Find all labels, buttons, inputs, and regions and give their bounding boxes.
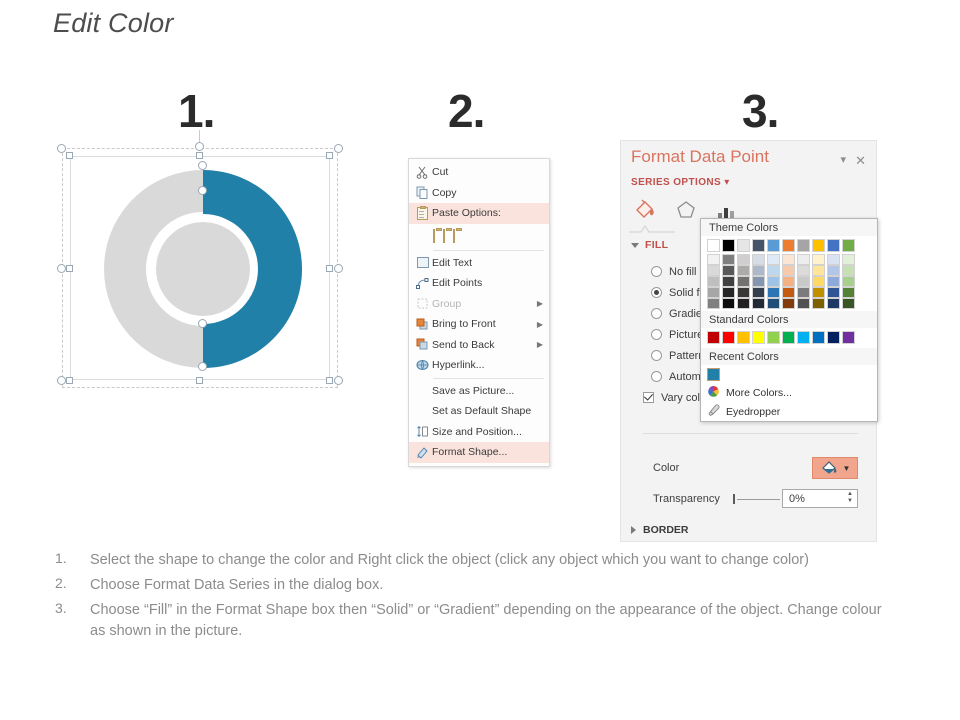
border-section-header[interactable]: BORDER	[631, 524, 689, 536]
resize-handle-e[interactable]	[326, 265, 333, 272]
chevron-right-icon: ▶	[537, 320, 545, 329]
theme-swatch-base[interactable]	[722, 239, 735, 252]
pane-title: Format Data Point	[631, 147, 769, 167]
theme-swatch-shade-5[interactable]	[842, 298, 855, 309]
theme-swatch-shade-1[interactable]	[722, 254, 735, 265]
radio-indicator	[651, 308, 662, 319]
standard-swatch-10[interactable]	[842, 331, 855, 344]
paste-options-row[interactable]	[409, 224, 549, 248]
theme-swatch-shade-3[interactable]	[737, 276, 750, 287]
standard-swatch-9[interactable]	[827, 331, 840, 344]
theme-swatch-shade-4[interactable]	[842, 287, 855, 298]
theme-swatch-shade-5[interactable]	[812, 298, 825, 309]
menu-item-paste-options[interactable]: Paste Options:	[409, 203, 549, 224]
standard-colors-header: Standard Colors	[701, 311, 877, 328]
theme-swatch-shade-2[interactable]	[752, 265, 765, 276]
theme-swatch-shade-2[interactable]	[737, 265, 750, 276]
theme-swatch-shade-1[interactable]	[767, 254, 780, 265]
step-number-2: 2.	[448, 88, 484, 134]
eyedropper-icon	[707, 404, 720, 420]
theme-swatch-base[interactable]	[827, 239, 840, 252]
theme-swatch-shade-4[interactable]	[782, 287, 795, 298]
menu-item-send-to-back[interactable]: Send to Back ▶	[409, 335, 549, 356]
menu-label: Hyperlink...	[432, 359, 545, 371]
format-shape-icon	[413, 446, 432, 459]
theme-swatch-shade-4[interactable]	[812, 287, 825, 298]
theme-swatch-shade-3[interactable]	[782, 276, 795, 287]
slider-thumb[interactable]	[733, 494, 735, 504]
theme-swatch-base[interactable]	[707, 239, 720, 252]
theme-color-column-10[interactable]	[842, 239, 855, 309]
standard-swatch-6[interactable]	[782, 331, 795, 344]
slider-track	[737, 499, 780, 500]
series-options-label: SERIES OPTIONS	[631, 177, 721, 188]
theme-color-column-2[interactable]	[722, 239, 735, 309]
theme-swatch-shade-5[interactable]	[707, 298, 720, 309]
menu-item-size-and-position[interactable]: Size and Position...	[409, 422, 549, 443]
step-number-3: 3.	[742, 88, 778, 134]
resize-handle-ne[interactable]	[326, 152, 333, 159]
menu-item-edit-points[interactable]: Edit Points	[409, 273, 549, 294]
standard-swatch-3[interactable]	[737, 331, 750, 344]
resize-handle-nw[interactable]	[66, 152, 73, 159]
menu-label: Set as Default Shape	[432, 405, 545, 417]
theme-swatch-base[interactable]	[812, 239, 825, 252]
theme-swatch-shade-5[interactable]	[737, 298, 750, 309]
outer-handle-w[interactable]	[57, 264, 66, 273]
segment-handle-top-outer[interactable]	[198, 161, 207, 170]
standard-colors-row[interactable]	[701, 328, 877, 348]
eyedropper-label: Eyedropper	[726, 406, 780, 418]
transparency-value: 0%	[789, 493, 805, 505]
radio-indicator	[651, 266, 662, 277]
menu-item-edit-text[interactable]: Edit Text	[409, 253, 549, 274]
instruction-item-1: 1. Select the shape to change the color …	[55, 550, 890, 571]
theme-swatch-shade-4[interactable]	[797, 287, 810, 298]
transparency-setting-row[interactable]: Transparency 0% ▲ ▼	[653, 489, 858, 508]
checkbox-indicator-checked	[643, 392, 654, 403]
instruction-text: Select the shape to change the color and…	[90, 550, 809, 571]
theme-colors-header: Theme Colors	[701, 219, 877, 236]
theme-swatch-base[interactable]	[767, 239, 780, 252]
resize-handle-sw[interactable]	[66, 377, 73, 384]
theme-swatch-shade-3[interactable]	[722, 276, 735, 287]
recent-swatch-1[interactable]	[707, 368, 720, 381]
menu-item-format-shape[interactable]: Format Shape...	[409, 442, 549, 463]
page-title: Edit Color	[53, 8, 174, 39]
doughnut-chart[interactable]	[100, 166, 306, 372]
theme-swatch-shade-5[interactable]	[797, 298, 810, 309]
theme-swatch-base[interactable]	[842, 239, 855, 252]
spinner-up-icon[interactable]: ▲	[847, 492, 853, 497]
menu-item-bring-to-front[interactable]: Bring to Front ▶	[409, 314, 549, 335]
size-position-icon	[413, 425, 432, 438]
theme-swatch-shade-1[interactable]	[827, 254, 840, 265]
theme-swatch-shade-5[interactable]	[782, 298, 795, 309]
menu-item-cut[interactable]: Cut	[409, 162, 549, 183]
recent-colors-row[interactable]	[701, 365, 877, 383]
option-label: No fill	[669, 266, 697, 278]
standard-swatch-1[interactable]	[707, 331, 720, 344]
theme-swatch-shade-4[interactable]	[752, 287, 765, 298]
edit-text-icon	[413, 257, 432, 268]
doughnut-svg	[100, 166, 306, 372]
theme-swatch-shade-1[interactable]	[797, 254, 810, 265]
menu-item-hyperlink[interactable]: Hyperlink...	[409, 355, 549, 376]
theme-swatch-base[interactable]	[782, 239, 795, 252]
outer-handle-sw[interactable]	[57, 376, 66, 385]
theme-swatch-shade-1[interactable]	[707, 254, 720, 265]
fill-section-header[interactable]: FILL	[631, 239, 668, 251]
theme-swatch-shade-2[interactable]	[812, 265, 825, 276]
menu-label: Copy	[432, 187, 545, 199]
menu-label: Save as Picture...	[432, 385, 545, 397]
radio-indicator	[651, 329, 662, 340]
standard-swatch-2[interactable]	[722, 331, 735, 344]
bring-to-front-icon	[413, 318, 432, 331]
effects-pentagon-icon[interactable]	[675, 199, 697, 224]
theme-swatch-shade-5[interactable]	[752, 298, 765, 309]
paste-keep-formatting-icon[interactable]	[433, 230, 435, 242]
theme-swatch-shade-3[interactable]	[707, 276, 720, 287]
segment-handle-top-inner[interactable]	[198, 186, 207, 195]
resize-handle-w[interactable]	[66, 265, 73, 272]
theme-color-column-5[interactable]	[767, 239, 780, 309]
menu-label: Size and Position...	[432, 426, 545, 438]
chart-selection-panel[interactable]	[62, 148, 338, 388]
standard-swatch-7[interactable]	[797, 331, 810, 344]
menu-label: Format Shape...	[432, 446, 545, 458]
theme-swatch-shade-5[interactable]	[827, 298, 840, 309]
paste-merge-formatting-icon[interactable]	[443, 230, 445, 242]
doughnut-inner-circle	[156, 222, 250, 316]
rotation-handle[interactable]	[195, 142, 204, 151]
more-colors-item[interactable]: More Colors...	[701, 383, 877, 402]
instruction-item-3: 3. Choose “Fill” in the Format Shape box…	[55, 600, 890, 642]
hyperlink-icon	[413, 359, 432, 372]
instruction-number: 3.	[55, 600, 90, 642]
radio-indicator	[651, 371, 662, 382]
menu-label: Edit Points	[432, 277, 545, 289]
menu-label: Bring to Front	[432, 318, 537, 330]
theme-swatch-shade-4[interactable]	[707, 287, 720, 298]
group-icon	[413, 297, 432, 310]
outer-handle-se[interactable]	[334, 376, 343, 385]
segment-handle-bottom-inner[interactable]	[198, 319, 207, 328]
theme-color-column-8[interactable]	[812, 239, 825, 309]
pane-menu-caret-icon[interactable]: ▾	[840, 153, 846, 166]
chevron-right-icon: ▶	[537, 299, 545, 308]
theme-swatch-shade-2[interactable]	[782, 265, 795, 276]
chevron-down-icon: ▾	[724, 177, 729, 188]
theme-swatch-shade-3[interactable]	[797, 276, 810, 287]
theme-swatch-shade-3[interactable]	[752, 276, 765, 287]
color-picker-dropdown[interactable]: Theme Colors Standard Colors Recent Colo…	[700, 218, 878, 422]
menu-label: Edit Text	[432, 257, 545, 269]
pane-divider	[643, 433, 858, 434]
theme-swatch-shade-4[interactable]	[737, 287, 750, 298]
close-icon[interactable]: ✕	[855, 153, 866, 169]
menu-item-copy[interactable]: Copy	[409, 183, 549, 204]
resize-handle-n[interactable]	[196, 152, 203, 159]
eyedropper-item[interactable]: Eyedropper	[701, 402, 877, 421]
theme-swatch-shade-2[interactable]	[707, 265, 720, 276]
context-menu[interactable]: Cut Copy Paste Options: Edit Text Edit P…	[408, 158, 550, 467]
theme-swatch-shade-2[interactable]	[842, 265, 855, 276]
theme-swatch-base[interactable]	[752, 239, 765, 252]
radio-indicator	[651, 350, 662, 361]
theme-swatch-shade-4[interactable]	[827, 287, 840, 298]
menu-separator	[433, 250, 544, 251]
theme-swatch-shade-5[interactable]	[767, 298, 780, 309]
standard-swatch-8[interactable]	[812, 331, 825, 344]
outer-handle-nw[interactable]	[57, 144, 66, 153]
theme-swatch-shade-3[interactable]	[767, 276, 780, 287]
scissors-icon	[413, 166, 432, 179]
color-dropdown-caret-icon[interactable]: ▼	[843, 464, 851, 473]
resize-handle-se[interactable]	[326, 377, 333, 384]
theme-swatch-shade-2[interactable]	[722, 265, 735, 276]
outer-handle-e[interactable]	[334, 264, 343, 273]
theme-swatch-shade-4[interactable]	[722, 287, 735, 298]
color-setting-row[interactable]: Color ▼	[653, 457, 858, 479]
menu-item-set-as-default-shape[interactable]: Set as Default Shape	[409, 401, 549, 422]
fill-header-label: FILL	[645, 239, 668, 251]
menu-label: Group	[432, 298, 537, 310]
color-label: Color	[653, 462, 812, 474]
theme-color-column-9[interactable]	[827, 239, 840, 309]
menu-label: Cut	[432, 166, 545, 178]
theme-swatch-shade-4[interactable]	[767, 287, 780, 298]
menu-label: Paste Options:	[432, 207, 545, 219]
transparency-spinner[interactable]: 0% ▲ ▼	[782, 489, 858, 508]
theme-colors-grid[interactable]	[701, 236, 877, 311]
color-wheel-icon	[707, 385, 720, 401]
fill-bucket-icon	[820, 460, 840, 476]
paste-picture-icon[interactable]	[453, 230, 455, 242]
triangle-right-icon	[631, 526, 636, 534]
theme-swatch-shade-1[interactable]	[842, 254, 855, 265]
theme-swatch-base[interactable]	[797, 239, 810, 252]
theme-swatch-shade-1[interactable]	[812, 254, 825, 265]
copy-icon	[413, 186, 432, 199]
theme-swatch-shade-1[interactable]	[782, 254, 795, 265]
segment-handle-bottom-outer[interactable]	[198, 362, 207, 371]
more-colors-label: More Colors...	[726, 387, 792, 399]
theme-swatch-shade-3[interactable]	[812, 276, 825, 287]
instruction-text: Choose “Fill” in the Format Shape box th…	[90, 600, 890, 642]
menu-label: Send to Back	[432, 339, 537, 351]
instruction-number: 1.	[55, 550, 90, 571]
theme-swatch-shade-2[interactable]	[797, 265, 810, 276]
theme-color-column-4[interactable]	[752, 239, 765, 309]
chevron-right-icon: ▶	[537, 340, 545, 349]
transparency-slider[interactable]	[731, 493, 782, 505]
theme-swatch-shade-3[interactable]	[842, 276, 855, 287]
instruction-text: Choose Format Data Series in the dialog …	[90, 575, 383, 596]
edit-points-icon	[413, 277, 432, 290]
standard-swatch-4[interactable]	[752, 331, 765, 344]
radio-indicator-selected	[651, 287, 662, 298]
color-fill-button[interactable]: ▼	[812, 457, 858, 479]
instruction-item-2: 2. Choose Format Data Series in the dial…	[55, 575, 890, 596]
theme-color-column-7[interactable]	[797, 239, 810, 309]
theme-swatch-shade-2[interactable]	[827, 265, 840, 276]
theme-color-column-6[interactable]	[782, 239, 795, 309]
theme-swatch-shade-3[interactable]	[827, 276, 840, 287]
resize-handle-s[interactable]	[196, 377, 203, 384]
menu-item-group: Group ▶	[409, 294, 549, 315]
triangle-down-icon	[631, 243, 639, 248]
send-to-back-icon	[413, 338, 432, 351]
instruction-number: 2.	[55, 575, 90, 596]
instructions-list: 1. Select the shape to change the color …	[55, 550, 890, 642]
menu-item-save-as-picture[interactable]: Save as Picture...	[409, 381, 549, 402]
spinner-down-icon[interactable]: ▼	[847, 499, 853, 504]
spinner-arrows[interactable]: ▲ ▼	[847, 492, 853, 504]
paste-icon	[413, 207, 432, 220]
theme-swatch-base[interactable]	[737, 239, 750, 252]
transparency-label: Transparency	[653, 493, 731, 505]
theme-color-column-3[interactable]	[737, 239, 750, 309]
theme-swatch-shade-1[interactable]	[752, 254, 765, 265]
menu-separator	[433, 378, 544, 379]
outer-handle-ne[interactable]	[334, 144, 343, 153]
fill-bucket-icon[interactable]	[633, 197, 657, 224]
series-options-dropdown[interactable]: SERIES OPTIONS ▾	[631, 177, 730, 188]
recent-colors-header: Recent Colors	[701, 348, 877, 365]
theme-color-column-1[interactable]	[707, 239, 720, 309]
theme-swatch-shade-1[interactable]	[737, 254, 750, 265]
standard-swatch-5[interactable]	[767, 331, 780, 344]
theme-swatch-shade-2[interactable]	[767, 265, 780, 276]
step-number-1: 1.	[178, 88, 214, 134]
theme-swatch-shade-5[interactable]	[722, 298, 735, 309]
border-header-label: BORDER	[643, 524, 689, 536]
tab-underline	[629, 225, 675, 233]
